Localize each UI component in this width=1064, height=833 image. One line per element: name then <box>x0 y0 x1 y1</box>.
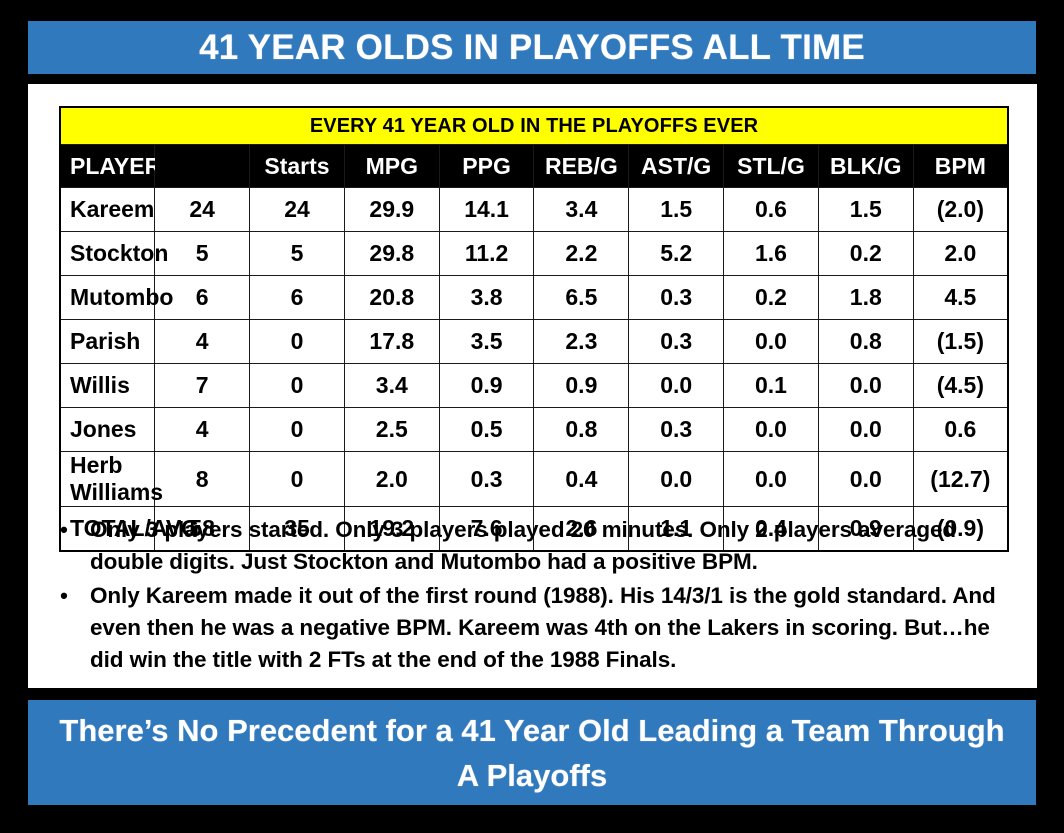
cell-rebg: 2.2 <box>534 232 629 276</box>
cell-blkg: 1.5 <box>818 188 913 232</box>
cell-astg: 0.3 <box>629 320 724 364</box>
table-row: Herb Williams 8 0 2.0 0.3 0.4 0.0 0.0 0.… <box>60 452 1008 507</box>
table-row: Stockton 5 5 29.8 11.2 2.2 5.2 1.6 0.2 2… <box>60 232 1008 276</box>
cell-ppg: 3.5 <box>439 320 534 364</box>
cell-stlg: 0.2 <box>724 276 819 320</box>
cell-starts: 24 <box>250 188 345 232</box>
cell-mpg: 2.0 <box>344 452 439 507</box>
column-header-rebg[interactable]: REB/G <box>534 145 629 188</box>
cell-bpm: (2.0) <box>913 188 1008 232</box>
cell-stlg: 0.6 <box>724 188 819 232</box>
cell-starts: 0 <box>250 364 345 408</box>
cell-blkg: 0.8 <box>818 320 913 364</box>
table-row: Mutombo 6 6 20.8 3.8 6.5 0.3 0.2 1.8 4.5 <box>60 276 1008 320</box>
cell-games: 7 <box>155 364 250 408</box>
bullet-list: • Only 3 players started. Only 3 players… <box>38 514 1028 678</box>
cell-starts: 5 <box>250 232 345 276</box>
column-header-ppg[interactable]: PPG <box>439 145 534 188</box>
cell-mpg: 20.8 <box>344 276 439 320</box>
cell-starts: 0 <box>250 452 345 507</box>
cell-bpm: (12.7) <box>913 452 1008 507</box>
cell-astg: 5.2 <box>629 232 724 276</box>
cell-games: 4 <box>155 320 250 364</box>
column-header-blkg[interactable]: BLK/G <box>818 145 913 188</box>
cell-ppg: 0.3 <box>439 452 534 507</box>
cell-mpg: 17.8 <box>344 320 439 364</box>
cell-stlg: 1.6 <box>724 232 819 276</box>
cell-mpg: 2.5 <box>344 408 439 452</box>
cell-player: Kareem <box>60 188 155 232</box>
list-item: • Only 3 players started. Only 3 players… <box>38 514 1028 578</box>
cell-bpm: (4.5) <box>913 364 1008 408</box>
cell-astg: 0.3 <box>629 408 724 452</box>
footer-text: There’s No Precedent for a 41 Year Old L… <box>28 708 1036 798</box>
bullet-icon: • <box>38 580 90 612</box>
table-row: Willis 7 0 3.4 0.9 0.9 0.0 0.1 0.0 (4.5) <box>60 364 1008 408</box>
cell-ppg: 0.5 <box>439 408 534 452</box>
cell-games: 5 <box>155 232 250 276</box>
cell-player: Jones <box>60 408 155 452</box>
cell-mpg: 29.9 <box>344 188 439 232</box>
table-caption-row: EVERY 41 YEAR OLD IN THE PLAYOFFS EVER <box>60 107 1008 145</box>
column-header-bpm[interactable]: BPM <box>913 145 1008 188</box>
cell-astg: 0.3 <box>629 276 724 320</box>
cell-blkg: 0.2 <box>818 232 913 276</box>
page-title: 41 YEAR OLDS IN PLAYOFFS ALL TIME <box>199 28 865 68</box>
stats-table-container: EVERY 41 YEAR OLD IN THE PLAYOFFS EVER P… <box>59 106 1009 552</box>
cell-bpm: 4.5 <box>913 276 1008 320</box>
cell-bpm: (1.5) <box>913 320 1008 364</box>
slide: 41 YEAR OLDS IN PLAYOFFS ALL TIME EVERY … <box>0 0 1064 833</box>
cell-mpg: 3.4 <box>344 364 439 408</box>
column-header-player[interactable]: PLAYER <box>60 145 155 188</box>
bullet-text: Only 3 players started. Only 3 players p… <box>90 514 1028 578</box>
cell-blkg: 0.0 <box>818 364 913 408</box>
cell-starts: 0 <box>250 320 345 364</box>
cell-games: 4 <box>155 408 250 452</box>
cell-games: 24 <box>155 188 250 232</box>
cell-bpm: 0.6 <box>913 408 1008 452</box>
cell-rebg: 3.4 <box>534 188 629 232</box>
stats-table: EVERY 41 YEAR OLD IN THE PLAYOFFS EVER P… <box>59 106 1009 552</box>
cell-stlg: 0.0 <box>724 320 819 364</box>
column-header-games-obscured[interactable] <box>155 145 250 188</box>
column-header-starts[interactable]: Starts <box>250 145 345 188</box>
cell-astg: 0.0 <box>629 364 724 408</box>
cell-rebg: 2.3 <box>534 320 629 364</box>
cell-games: 8 <box>155 452 250 507</box>
cell-ppg: 14.1 <box>439 188 534 232</box>
cell-blkg: 1.8 <box>818 276 913 320</box>
cell-ppg: 3.8 <box>439 276 534 320</box>
bullet-icon: • <box>38 514 90 546</box>
footer-banner: There’s No Precedent for a 41 Year Old L… <box>28 700 1036 805</box>
cell-rebg: 0.4 <box>534 452 629 507</box>
cell-rebg: 0.8 <box>534 408 629 452</box>
cell-player: Parish <box>60 320 155 364</box>
cell-stlg: 0.1 <box>724 364 819 408</box>
column-header-astg[interactable]: AST/G <box>629 145 724 188</box>
cell-rebg: 0.9 <box>534 364 629 408</box>
column-header-mpg[interactable]: MPG <box>344 145 439 188</box>
cell-blkg: 0.0 <box>818 408 913 452</box>
cell-blkg: 0.0 <box>818 452 913 507</box>
cell-starts: 6 <box>250 276 345 320</box>
cell-starts: 0 <box>250 408 345 452</box>
cell-mpg: 29.8 <box>344 232 439 276</box>
table-row: Kareem 24 24 29.9 14.1 3.4 1.5 0.6 1.5 (… <box>60 188 1008 232</box>
cell-stlg: 0.0 <box>724 408 819 452</box>
cell-ppg: 11.2 <box>439 232 534 276</box>
cell-player: Mutombo <box>60 276 155 320</box>
bullet-text: Only Kareem made it out of the first rou… <box>90 580 1028 676</box>
table-caption: EVERY 41 YEAR OLD IN THE PLAYOFFS EVER <box>60 107 1008 145</box>
table-header-row: PLAYER Starts MPG PPG REB/G AST/G STL/G … <box>60 145 1008 188</box>
cell-astg: 0.0 <box>629 452 724 507</box>
stats-table-body: Kareem 24 24 29.9 14.1 3.4 1.5 0.6 1.5 (… <box>60 188 1008 552</box>
cell-player: Herb Williams <box>60 452 155 507</box>
table-row: Parish 4 0 17.8 3.5 2.3 0.3 0.0 0.8 (1.5… <box>60 320 1008 364</box>
column-header-stlg[interactable]: STL/G <box>724 145 819 188</box>
table-row: Jones 4 0 2.5 0.5 0.8 0.3 0.0 0.0 0.6 <box>60 408 1008 452</box>
content-card: EVERY 41 YEAR OLD IN THE PLAYOFFS EVER P… <box>28 84 1037 688</box>
title-banner: 41 YEAR OLDS IN PLAYOFFS ALL TIME <box>28 21 1036 74</box>
cell-stlg: 0.0 <box>724 452 819 507</box>
cell-player: Stockton <box>60 232 155 276</box>
list-item: • Only Kareem made it out of the first r… <box>38 580 1028 676</box>
cell-rebg: 6.5 <box>534 276 629 320</box>
cell-ppg: 0.9 <box>439 364 534 408</box>
cell-bpm: 2.0 <box>913 232 1008 276</box>
cell-player: Willis <box>60 364 155 408</box>
cell-astg: 1.5 <box>629 188 724 232</box>
